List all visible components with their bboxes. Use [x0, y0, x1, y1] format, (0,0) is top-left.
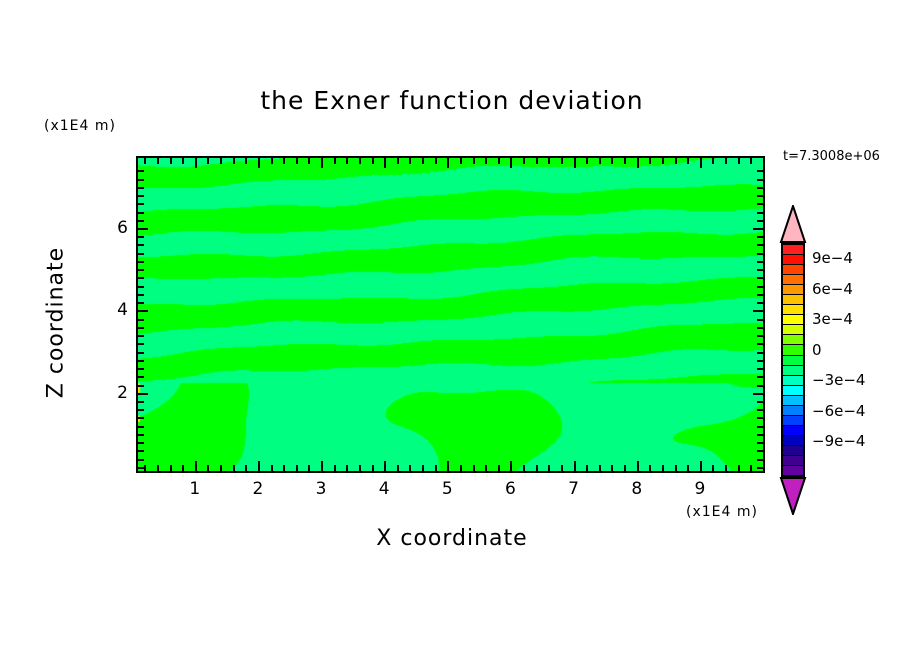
y-tick: [757, 409, 763, 411]
y-tick: [757, 417, 763, 419]
time-stamp-label: t=7.3008e+06: [783, 149, 880, 164]
x-tick: [473, 465, 475, 471]
y-tick: [757, 203, 763, 205]
y-tick: [138, 294, 144, 296]
x-tick-label: 2: [243, 479, 273, 499]
x-tick: [334, 158, 336, 164]
y-tick: [757, 335, 763, 337]
y-tick: [757, 244, 763, 246]
x-tick: [220, 158, 222, 164]
colorbar-band: [783, 366, 803, 376]
x-tick: [548, 158, 550, 164]
y-tick: [138, 417, 144, 419]
colorbar-tick-label: −3e−4: [812, 371, 865, 389]
x-tick: [611, 158, 613, 164]
x-tick: [283, 158, 285, 164]
x-tick: [700, 158, 702, 168]
y-tick: [138, 393, 148, 395]
y-tick: [138, 467, 144, 469]
y-tick: [757, 261, 763, 263]
x-tick: [725, 158, 727, 164]
x-tick-label: 4: [369, 479, 399, 499]
x-tick: [271, 465, 273, 471]
y-tick: [138, 319, 144, 321]
y-tick: [138, 310, 148, 312]
y-tick: [138, 401, 144, 403]
colorbar-under-arrow-icon: [778, 477, 808, 515]
x-tick: [170, 465, 172, 471]
x-tick: [725, 465, 727, 471]
y-tick: [757, 376, 763, 378]
y-tick: [757, 286, 763, 288]
y-tick: [138, 212, 144, 214]
y-tick: [757, 187, 763, 189]
x-axis-unit-label: (x1E4 m): [686, 504, 758, 520]
x-axis-title: X coordinate: [0, 526, 904, 551]
x-tick: [662, 465, 664, 471]
y-tick: [138, 335, 144, 337]
y-tick: [757, 459, 763, 461]
x-tick: [258, 461, 260, 471]
x-tick: [384, 158, 386, 168]
y-tick: [138, 376, 144, 378]
x-tick: [561, 465, 563, 471]
x-tick: [409, 158, 411, 164]
colorbar-tick-label: −9e−4: [812, 432, 865, 450]
y-tick: [138, 195, 144, 197]
x-tick: [498, 465, 500, 471]
x-tick: [372, 465, 374, 471]
colorbar-band: [783, 305, 803, 315]
x-tick: [359, 158, 361, 164]
y-tick: [138, 360, 144, 362]
y-tick: [757, 212, 763, 214]
y-tick: [757, 434, 763, 436]
x-tick: [447, 158, 449, 168]
x-tick: [334, 465, 336, 471]
x-tick: [271, 158, 273, 164]
y-tick: [138, 286, 144, 288]
x-tick: [308, 465, 310, 471]
x-tick: [220, 465, 222, 471]
y-axis-unit-label: (x1E4 m): [44, 118, 116, 134]
colorbar-band: [783, 396, 803, 406]
x-tick: [321, 158, 323, 168]
y-tick: [757, 277, 763, 279]
y-tick: [757, 442, 763, 444]
x-tick: [346, 158, 348, 164]
x-tick: [384, 461, 386, 471]
x-tick: [548, 465, 550, 471]
x-tick: [346, 465, 348, 471]
colorbar-tick-label: 9e−4: [812, 249, 853, 267]
x-tick: [258, 158, 260, 168]
x-tick: [321, 461, 323, 471]
x-tick: [397, 158, 399, 164]
x-tick: [523, 158, 525, 164]
y-tick: [138, 426, 144, 428]
x-tick: [586, 158, 588, 164]
x-tick: [233, 158, 235, 164]
colorbar-band: [783, 345, 803, 355]
x-tick: [712, 465, 714, 471]
colorbar-band: [783, 335, 803, 345]
x-tick: [586, 465, 588, 471]
x-tick: [700, 461, 702, 471]
y-axis-title: Z coordinate: [44, 223, 69, 423]
colorbar-band: [783, 285, 803, 295]
y-tick: [757, 220, 763, 222]
colorbar-tick-label: 3e−4: [812, 310, 853, 328]
x-tick: [296, 465, 298, 471]
x-tick-label: 6: [495, 479, 525, 499]
x-tick: [523, 465, 525, 471]
x-tick: [157, 465, 159, 471]
x-tick: [712, 158, 714, 164]
colorbar-band: [783, 416, 803, 426]
y-tick: [138, 385, 144, 387]
colorbar-band: [783, 426, 803, 436]
y-tick: [138, 459, 144, 461]
x-tick: [435, 158, 437, 164]
y-tick: [138, 253, 144, 255]
colorbar-band: [783, 406, 803, 416]
x-tick: [195, 158, 197, 168]
y-tick: [753, 310, 763, 312]
x-tick: [422, 158, 424, 164]
y-tick: [757, 327, 763, 329]
x-tick: [409, 465, 411, 471]
y-tick: [757, 343, 763, 345]
colorbar-band: [783, 275, 803, 285]
x-tick: [675, 158, 677, 164]
y-tick: [138, 368, 144, 370]
x-tick: [662, 158, 664, 164]
x-tick-label: 5: [432, 479, 462, 499]
y-tick: [757, 170, 763, 172]
colorbar: [778, 205, 808, 515]
y-tick: [757, 467, 763, 469]
x-tick: [624, 158, 626, 164]
y-tick: [138, 442, 144, 444]
colorbar-tick-label: −6e−4: [812, 402, 865, 420]
y-tick: [138, 343, 144, 345]
y-tick-label: 6: [100, 218, 128, 238]
x-tick: [510, 461, 512, 471]
y-tick-label: 2: [100, 383, 128, 403]
colorbar-band: [783, 446, 803, 456]
x-tick: [649, 158, 651, 164]
x-tick: [422, 465, 424, 471]
y-tick: [138, 179, 144, 181]
x-tick: [435, 465, 437, 471]
y-tick: [138, 220, 144, 222]
y-tick: [138, 244, 144, 246]
x-tick: [599, 465, 601, 471]
y-tick: [757, 302, 763, 304]
y-tick: [757, 426, 763, 428]
y-tick: [138, 409, 144, 411]
colorbar-band: [783, 315, 803, 325]
x-tick: [397, 465, 399, 471]
colorbar-bands: [781, 243, 805, 477]
x-tick: [460, 158, 462, 164]
colorbar-band: [783, 376, 803, 386]
x-tick: [245, 158, 247, 164]
x-tick: [460, 465, 462, 471]
y-tick: [138, 327, 144, 329]
y-tick: [757, 450, 763, 452]
colorbar-band: [783, 386, 803, 396]
x-tick: [473, 158, 475, 164]
y-tick: [757, 195, 763, 197]
y-tick: [138, 187, 144, 189]
x-tick: [233, 465, 235, 471]
x-tick-label: 8: [622, 479, 652, 499]
y-tick: [138, 236, 144, 238]
colorbar-band: [783, 456, 803, 466]
x-tick: [624, 465, 626, 471]
y-tick: [138, 203, 144, 205]
y-tick: [757, 401, 763, 403]
x-tick: [599, 158, 601, 164]
y-tick: [757, 319, 763, 321]
x-tick: [207, 158, 209, 164]
x-tick: [649, 465, 651, 471]
x-tick: [195, 461, 197, 471]
y-tick-label: 4: [100, 300, 128, 320]
x-tick: [750, 158, 752, 164]
x-tick: [144, 465, 146, 471]
x-tick: [637, 158, 639, 168]
x-tick: [687, 158, 689, 164]
x-tick: [750, 465, 752, 471]
y-tick: [138, 434, 144, 436]
y-tick: [138, 277, 144, 279]
x-tick: [144, 158, 146, 164]
contour-plot-area: [136, 156, 765, 473]
x-tick-label: 3: [306, 479, 336, 499]
y-tick: [138, 170, 144, 172]
y-tick: [138, 261, 144, 263]
colorbar-band: [783, 265, 803, 275]
y-tick: [757, 179, 763, 181]
x-tick: [738, 158, 740, 164]
y-tick: [138, 450, 144, 452]
y-tick: [757, 368, 763, 370]
x-tick: [485, 465, 487, 471]
y-tick: [757, 360, 763, 362]
colorbar-band: [783, 295, 803, 305]
x-tick: [359, 465, 361, 471]
contour-field: [138, 158, 763, 471]
colorbar-over-arrow-icon: [778, 205, 808, 243]
y-tick: [138, 269, 144, 271]
colorbar-tick-label: 0: [812, 341, 822, 359]
x-tick: [296, 158, 298, 164]
x-tick: [182, 158, 184, 164]
x-tick: [738, 465, 740, 471]
x-tick: [245, 465, 247, 471]
y-tick: [757, 385, 763, 387]
colorbar-tick-label: 6e−4: [812, 280, 853, 298]
x-tick: [687, 465, 689, 471]
x-tick: [574, 158, 576, 168]
x-tick: [170, 158, 172, 164]
colorbar-band: [783, 436, 803, 446]
colorbar-band: [783, 356, 803, 366]
colorbar-band: [783, 245, 803, 255]
y-tick: [757, 294, 763, 296]
colorbar-band: [783, 466, 803, 475]
x-tick: [536, 465, 538, 471]
y-tick: [757, 269, 763, 271]
x-tick: [510, 158, 512, 168]
x-tick-label: 7: [559, 479, 589, 499]
colorbar-band: [783, 325, 803, 335]
x-tick: [157, 158, 159, 164]
x-tick-label: 9: [685, 479, 715, 499]
x-tick: [536, 158, 538, 164]
y-tick: [757, 236, 763, 238]
x-tick: [182, 465, 184, 471]
y-tick: [138, 302, 144, 304]
x-tick: [675, 465, 677, 471]
x-tick: [561, 158, 563, 164]
x-tick: [207, 465, 209, 471]
x-tick: [611, 465, 613, 471]
colorbar-band: [783, 255, 803, 265]
y-tick: [757, 352, 763, 354]
x-tick: [283, 465, 285, 471]
y-tick: [138, 228, 148, 230]
x-tick: [498, 158, 500, 164]
x-tick: [637, 461, 639, 471]
y-tick: [753, 228, 763, 230]
x-tick: [308, 158, 310, 164]
x-tick: [574, 461, 576, 471]
y-tick: [138, 352, 144, 354]
page-title: the Exner function deviation: [0, 86, 904, 115]
x-tick-label: 1: [180, 479, 210, 499]
x-tick: [485, 158, 487, 164]
y-tick: [753, 393, 763, 395]
x-tick: [372, 158, 374, 164]
x-tick: [447, 461, 449, 471]
y-tick: [757, 253, 763, 255]
